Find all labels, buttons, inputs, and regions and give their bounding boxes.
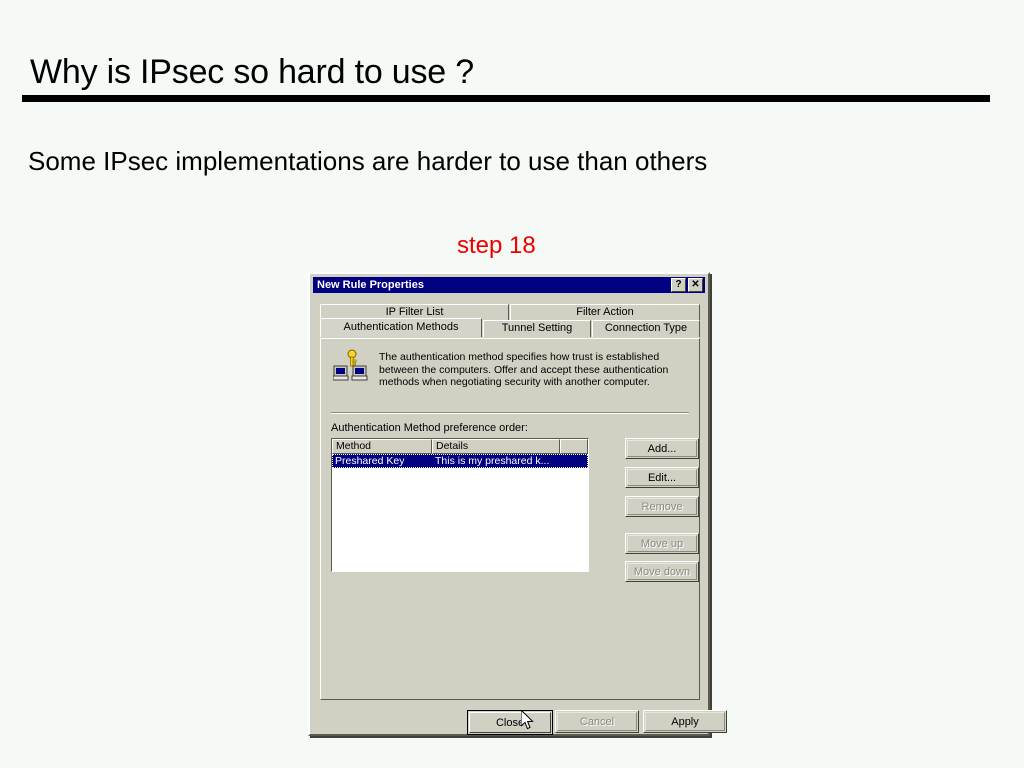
remove-button-label: Remove [627, 498, 697, 515]
slide-body-text: Some IPsec implementations are harder to… [28, 144, 707, 178]
cancel-button-label: Cancel [557, 712, 637, 731]
move-up-button-label: Move up [627, 535, 697, 552]
dialog-titlebar[interactable]: New Rule Properties ? ✕ [313, 277, 705, 293]
description-text: The authentication method specifies how … [379, 349, 685, 389]
cancel-button: Cancel [555, 710, 639, 733]
edit-button[interactable]: Edit... [625, 467, 699, 488]
help-icon[interactable]: ? [671, 278, 686, 292]
tab-tunnel-setting[interactable]: Tunnel Setting [483, 320, 591, 337]
step-label: step 18 [457, 231, 536, 261]
apply-button[interactable]: Apply [643, 710, 727, 733]
tab-connection-type[interactable]: Connection Type [592, 320, 700, 337]
new-rule-properties-dialog: New Rule Properties ? ✕ IP Filter List F… [308, 272, 710, 736]
page-title: Why is IPsec so hard to use ? [30, 51, 474, 93]
close-button-label: Close [469, 712, 551, 733]
list-item-details: This is my preshared k... [432, 454, 560, 468]
close-button[interactable]: Close [467, 710, 553, 735]
column-header-blank[interactable] [560, 439, 588, 454]
tab-page-authentication-methods: The authentication method specifies how … [320, 338, 700, 700]
list-label: Authentication Method preference order: [331, 422, 528, 435]
move-down-button-label: Move down [627, 563, 697, 580]
move-up-button: Move up [625, 533, 699, 554]
dialog-title: New Rule Properties [313, 277, 671, 293]
column-header-method[interactable]: Method [332, 439, 432, 454]
remove-button: Remove [625, 496, 699, 517]
apply-button-label: Apply [645, 712, 725, 731]
tab-filter-action[interactable]: Filter Action [510, 304, 700, 321]
column-header-details[interactable]: Details [432, 439, 560, 454]
tab-row-2: Authentication Methods Tunnel Setting Co… [320, 320, 700, 337]
tabstrip: IP Filter List Filter Action Authenticat… [320, 304, 700, 337]
description-block: The authentication method specifies how … [333, 349, 685, 389]
authentication-method-list[interactable]: Method Details Preshared Key This is my … [331, 438, 589, 572]
dialog-button-bar: Close Cancel Apply [310, 708, 708, 738]
title-underline-rule [22, 95, 990, 102]
add-button-label: Add... [627, 440, 697, 457]
description-separator [331, 412, 689, 414]
list-header-row: Method Details [332, 439, 588, 454]
close-icon[interactable]: ✕ [688, 278, 703, 292]
key-and-two-computers-icon [333, 349, 369, 383]
edit-button-label: Edit... [627, 469, 697, 486]
list-item[interactable]: Preshared Key This is my preshared k... [332, 454, 588, 468]
list-item-method: Preshared Key [332, 454, 432, 468]
tab-authentication-methods[interactable]: Authentication Methods [320, 318, 482, 337]
add-button[interactable]: Add... [625, 438, 699, 459]
move-down-button: Move down [625, 561, 699, 582]
